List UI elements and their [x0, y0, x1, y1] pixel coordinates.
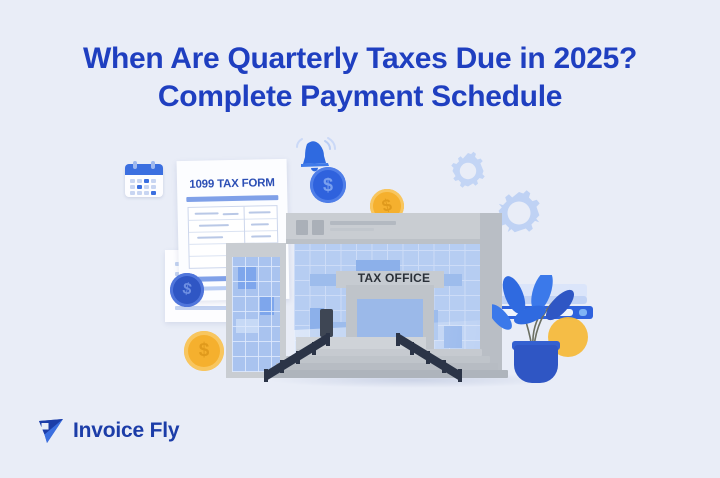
potted-plant-icon [492, 275, 582, 383]
paper-plane-icon [38, 418, 64, 444]
blue-coin-icon: $ [167, 270, 206, 309]
stair-railing-left [258, 331, 336, 383]
gear-icon [446, 149, 490, 193]
headline-line-1: When Are Quarterly Taxes Due in 2025? [40, 40, 680, 78]
gold-coin-icon: $ [184, 331, 224, 371]
brand-name: Invoice Fly [73, 419, 179, 443]
headline-line-2: Complete Payment Schedule [40, 78, 680, 116]
page-title: When Are Quarterly Taxes Due in 2025? Co… [0, 40, 720, 117]
brand-logo[interactable]: Invoice Fly [38, 418, 179, 444]
blue-coin-icon: $ [310, 167, 346, 203]
building-sign: TAX OFFICE [286, 271, 502, 285]
calendar-icon [125, 161, 163, 197]
stair-railing-right [390, 331, 468, 383]
banner-canvas: When Are Quarterly Taxes Due in 2025? Co… [0, 0, 720, 478]
hero-illustration: 1099 TAX FORM $ [0, 125, 720, 400]
tax-form-title: 1099 TAX FORM [185, 177, 279, 191]
